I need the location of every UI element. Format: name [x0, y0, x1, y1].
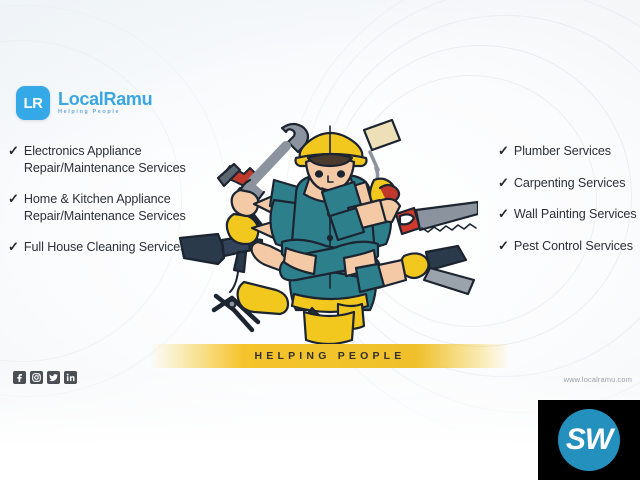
service-list-left: ✓ Electronics Appliance Repair/Maintenan… — [8, 143, 190, 271]
brand-name: LocalRamu — [58, 90, 152, 108]
logo-mark-icon: LR — [16, 86, 50, 120]
service-label: Pest Control Services — [514, 238, 633, 255]
list-item: ✓ Plumber Services — [498, 143, 638, 160]
list-item: ✓ Full House Cleaning Services — [8, 239, 190, 256]
list-item: ✓ Wall Painting Services — [498, 206, 638, 223]
brand-tagline: Helping People — [58, 110, 152, 116]
check-icon: ✓ — [498, 206, 509, 222]
service-list-right: ✓ Plumber Services ✓ Carpenting Services… — [498, 143, 638, 269]
service-label: Carpenting Services — [514, 175, 626, 192]
linkedin-icon[interactable] — [64, 371, 77, 384]
service-label: Electronics Appliance Repair/Maintenance… — [24, 143, 190, 176]
brand-logo[interactable]: LR LocalRamu Helping People — [16, 86, 152, 120]
logo-text-block: LocalRamu Helping People — [58, 90, 152, 116]
check-icon: ✓ — [498, 238, 509, 254]
check-icon: ✓ — [8, 239, 19, 255]
facebook-icon[interactable] — [13, 371, 26, 384]
logo-mark-text: LR — [24, 95, 43, 112]
service-label: Full House Cleaning Services — [24, 239, 186, 256]
service-label: Wall Painting Services — [514, 206, 637, 223]
instagram-icon[interactable] — [30, 371, 43, 384]
list-item: ✓ Carpenting Services — [498, 175, 638, 192]
list-item: ✓ Pest Control Services — [498, 238, 638, 255]
service-label: Home & Kitchen Appliance Repair/Maintena… — [24, 191, 190, 224]
multi-armed-handyman-illustration — [178, 118, 478, 346]
twitter-icon[interactable] — [47, 371, 60, 384]
service-label: Plumber Services — [514, 143, 611, 160]
list-item: ✓ Home & Kitchen Appliance Repair/Mainte… — [8, 191, 190, 224]
list-item: ✓ Electronics Appliance Repair/Maintenan… — [8, 143, 190, 176]
check-icon: ✓ — [8, 191, 19, 207]
check-icon: ✓ — [498, 175, 509, 191]
paint-roller-icon — [364, 120, 400, 184]
sw-watermark-badge[interactable]: SW — [538, 400, 640, 480]
hand-saw-icon — [396, 202, 478, 234]
sw-watermark-text: SW — [566, 423, 612, 457]
trowel-icon — [424, 246, 474, 294]
website-url[interactable]: www.localramu.com — [564, 375, 632, 384]
social-links[interactable] — [13, 371, 77, 384]
banner-text: HELPING PEOPLE — [255, 350, 406, 362]
helping-people-banner: HELPING PEOPLE — [150, 344, 510, 368]
check-icon: ✓ — [8, 143, 19, 159]
check-icon: ✓ — [498, 143, 509, 159]
promotional-flyer: LR LocalRamu Helping People ✓ Electronic… — [0, 0, 640, 480]
sw-watermark-circle: SW — [558, 409, 620, 471]
